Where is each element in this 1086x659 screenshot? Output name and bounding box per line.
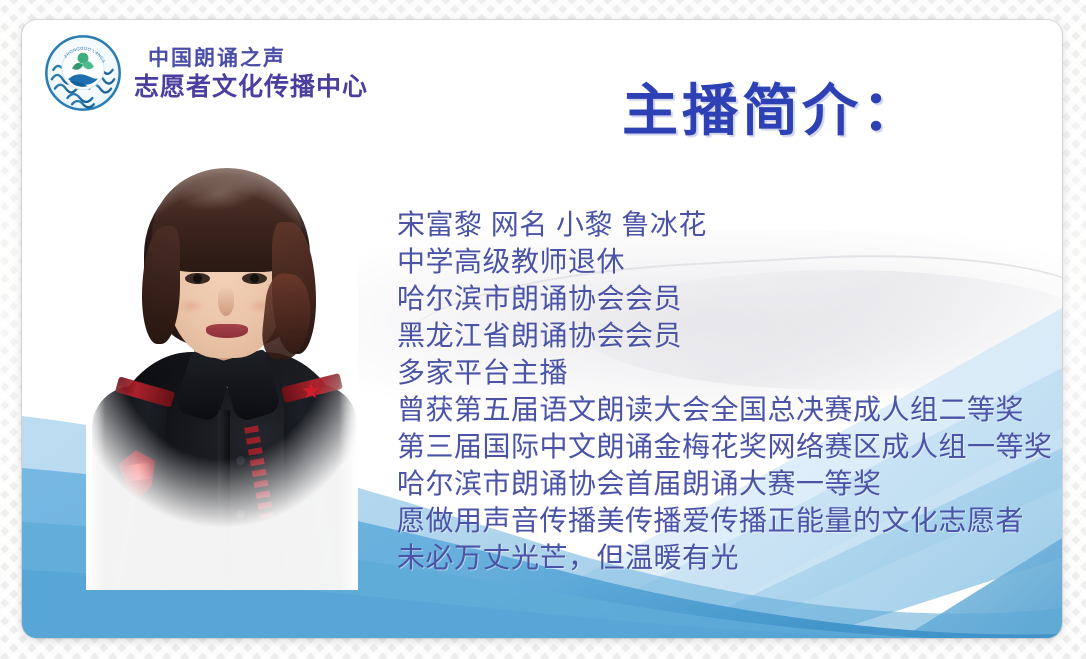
brand-line-secondary: 志愿者文化传播中心: [134, 75, 368, 100]
page-title: 主播简介：: [622, 66, 922, 147]
brand-lockup: ZHONGGUO LANGSONG 中国朗诵之声 志愿者文化传播中心: [44, 34, 368, 112]
bio-line: 多家平台主播: [397, 354, 1037, 391]
photo-white-vignette: [86, 134, 358, 590]
brand-text: 中国朗诵之声 志愿者文化传播中心: [134, 46, 368, 100]
brand-line-primary: 中国朗诵之声: [148, 48, 368, 69]
slide-backdrop: ZHONGGUO LANGSONG 中国朗诵之声 志愿者文化传播中心 主播简介：: [0, 0, 1086, 659]
bio-line: 未必万丈光芒，但温暖有光: [397, 539, 1037, 576]
bio-line: 哈尔滨市朗诵协会会员: [397, 280, 1037, 317]
slide-card: ZHONGGUO LANGSONG 中国朗诵之声 志愿者文化传播中心 主播简介：: [22, 20, 1062, 638]
bio-text-block: 宋富黎 网名 小黎 鲁冰花 中学高级教师退休 哈尔滨市朗诵协会会员 黑龙江省朗诵…: [397, 206, 1037, 576]
bio-line: 中学高级教师退休: [397, 243, 1037, 280]
bio-line: 第三届国际中文朗诵金梅花奖网络赛区成人组一等奖: [397, 428, 1037, 465]
bio-line: 宋富黎 网名 小黎 鲁冰花: [397, 206, 1037, 243]
bio-line: 黑龙江省朗诵协会会员: [397, 317, 1037, 354]
portrait-photo: [86, 134, 358, 590]
bio-line: 曾获第五届语文朗读大会全国总决赛成人组二等奖: [397, 391, 1037, 428]
volunteer-circle-emblem-icon: ZHONGGUO LANGSONG: [44, 34, 122, 112]
bio-line: 哈尔滨市朗诵协会首届朗诵大赛一等奖: [397, 465, 1037, 502]
bio-line: 愿做用声音传播美传播爱传播正能量的文化志愿者: [397, 502, 1037, 539]
